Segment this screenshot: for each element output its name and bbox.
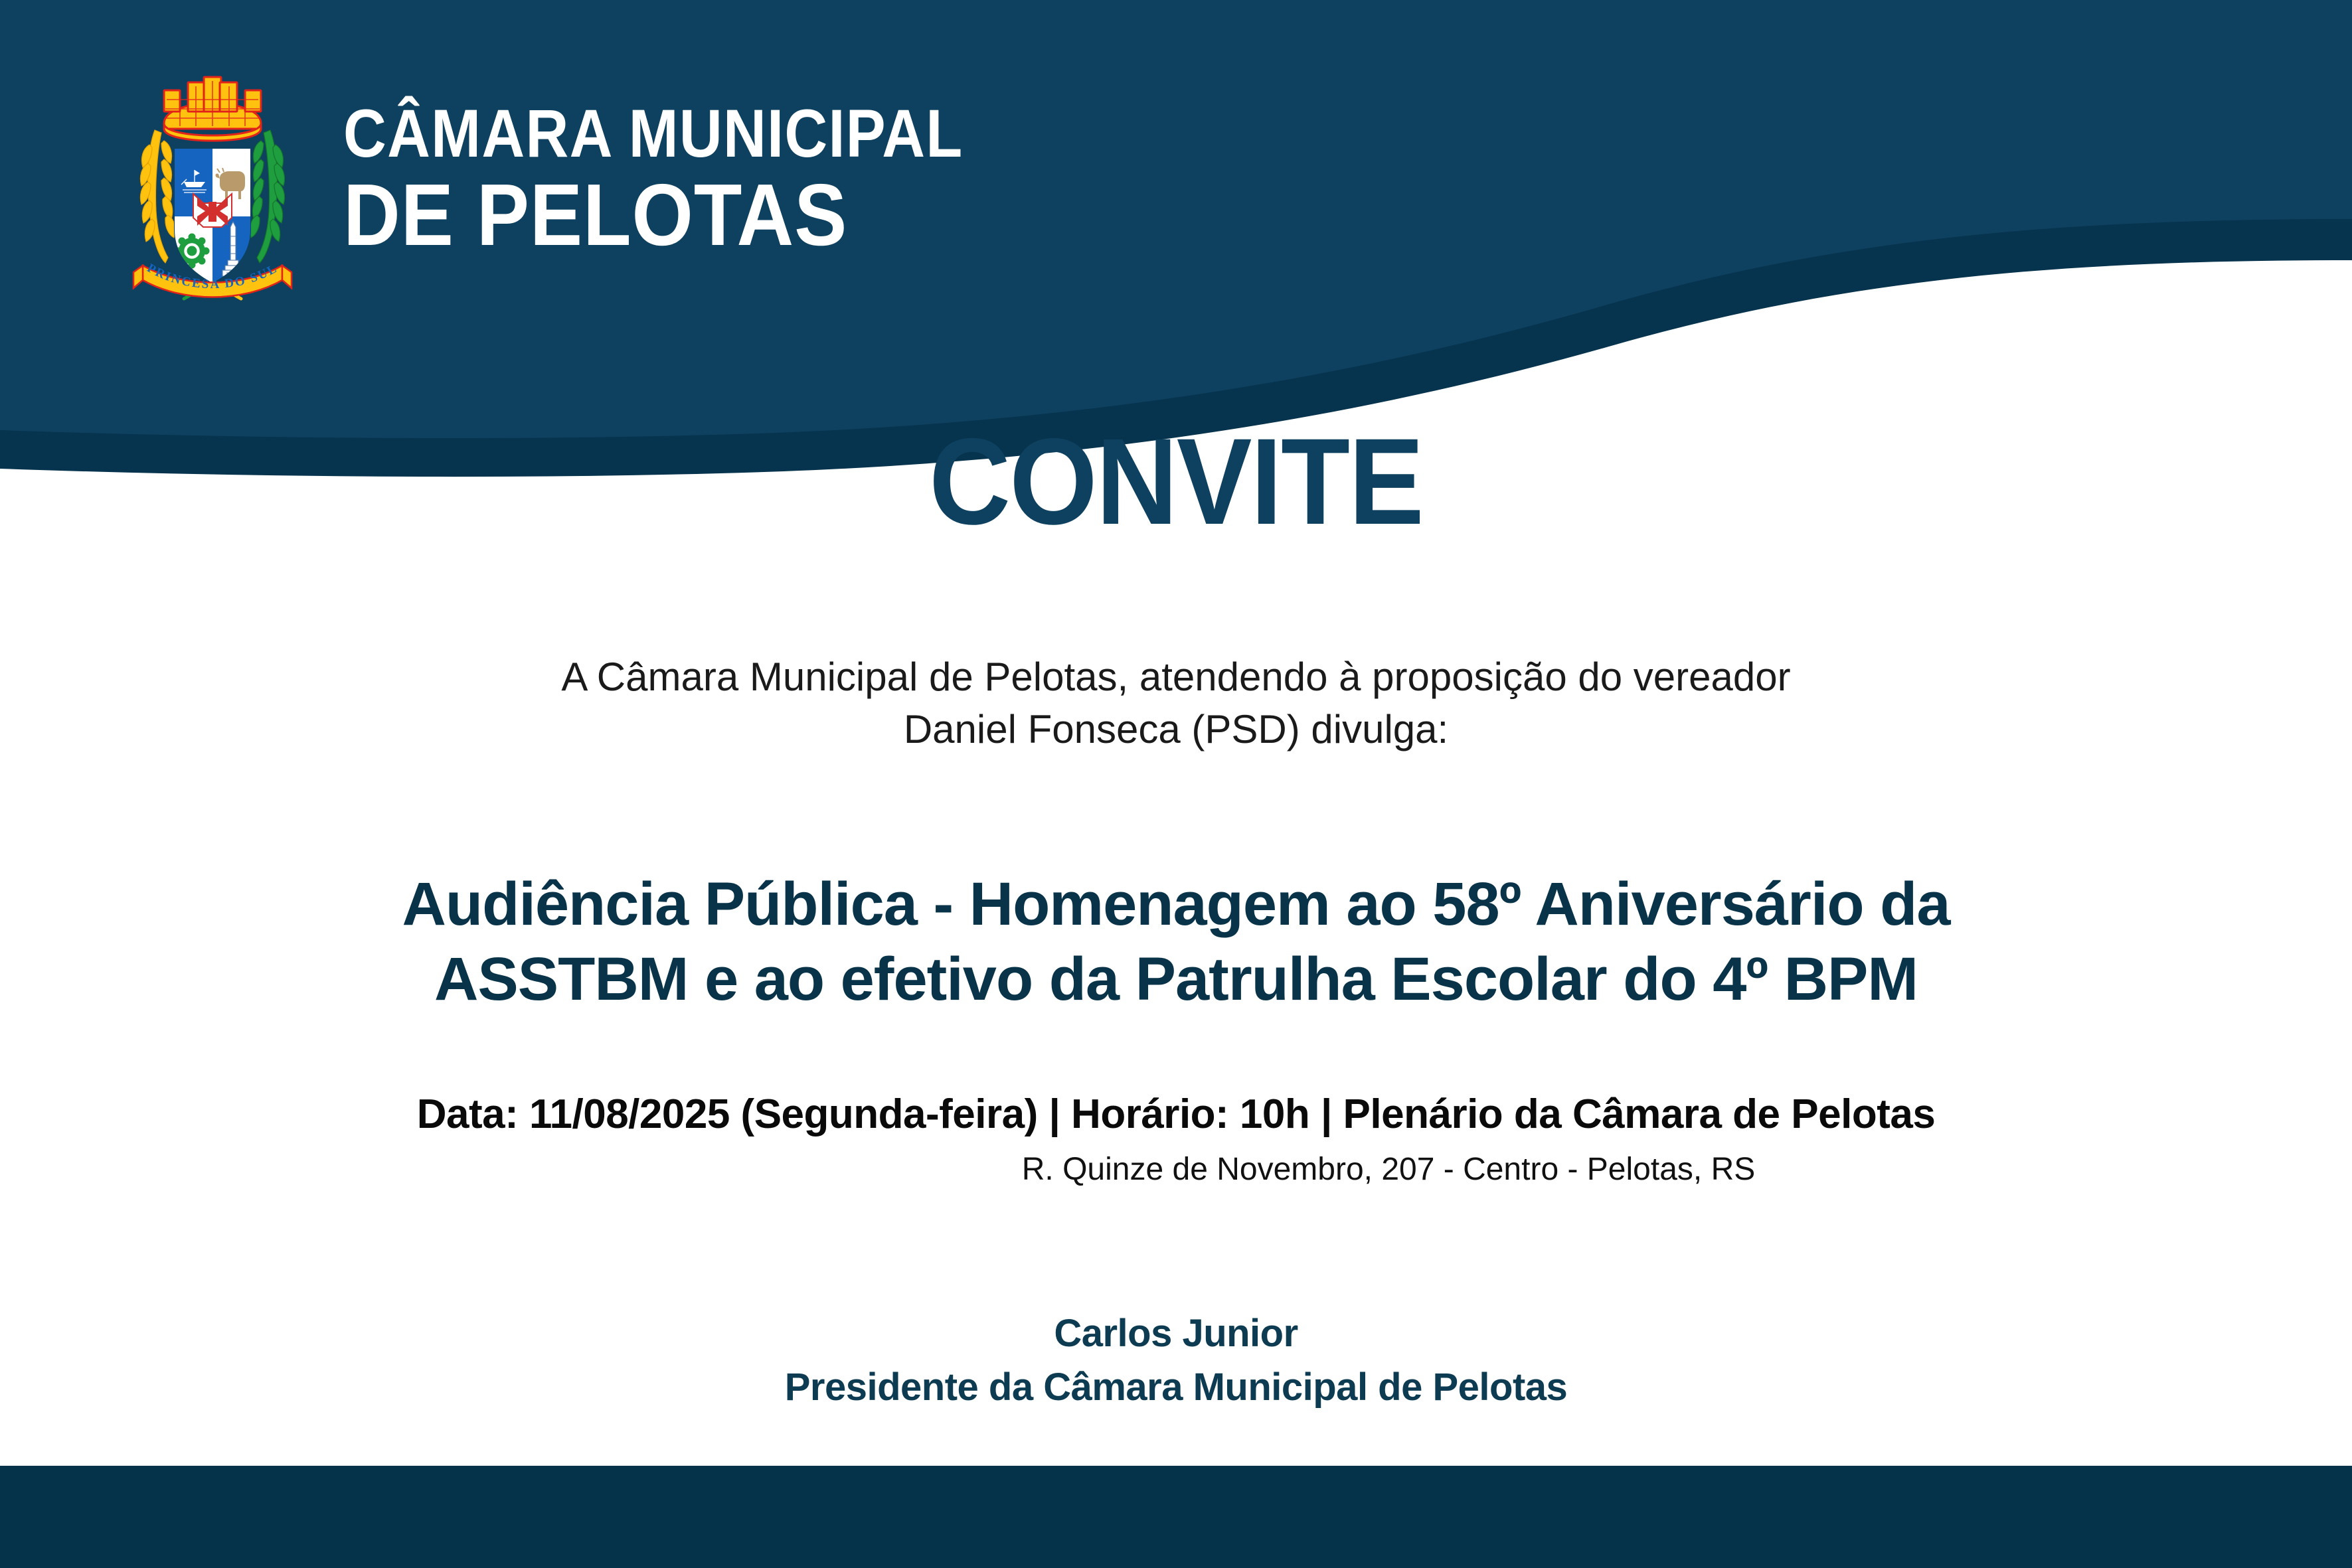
event-address: R. Quinze de Novembro, 207 - Centro - Pe… (0, 1151, 2352, 1188)
logo-line-camara-municipal: CÂMARA MUNICIPAL (343, 102, 964, 167)
event-heading-line-2: ASSTBM e ao efetivo da Patrulha Escolar … (147, 942, 2205, 1016)
logo-line-de-pelotas: DE PELOTAS (343, 173, 977, 258)
intro-paragraph: A Câmara Municipal de Pelotas, atendendo… (379, 651, 1973, 755)
signatory-role: Presidente da Câmara Municipal de Pelota… (0, 1365, 2352, 1409)
invitation-page: PRINCESA DO SUL CÂMARA MUNICIPAL DE PELO… (0, 0, 2352, 1568)
signature-block: Carlos Junior Presidente da Câmara Munic… (0, 1311, 2352, 1409)
pelotas-coat-of-arms-icon: PRINCESA DO SUL (123, 52, 302, 317)
logo-wordmark: CÂMARA MUNICIPAL DE PELOTAS (343, 102, 1048, 268)
event-heading: Audiência Pública - Homenagem ao 58º Ani… (147, 867, 2205, 1016)
intro-line-2: Daniel Fonseca (PSD) divulga: (379, 703, 1973, 755)
intro-line-1: A Câmara Municipal de Pelotas, atendendo… (379, 651, 1973, 703)
page-title: CONVITE (94, 412, 2258, 552)
wheat-branch-left (140, 130, 175, 263)
invitation-content: A Câmara Municipal de Pelotas, atendendo… (0, 651, 2352, 1188)
event-datetime-venue: Data: 11/08/2025 (Segunda-feira) | Horár… (0, 1091, 2352, 1138)
laurel-branch-right (250, 130, 284, 263)
footer-bar (0, 1466, 2352, 1568)
signatory-name: Carlos Junior (0, 1311, 2352, 1356)
civic-rosette-icon (175, 234, 210, 269)
event-heading-line-1: Audiência Pública - Homenagem ao 58º Ani… (147, 867, 2205, 941)
mural-crown-icon (164, 77, 261, 141)
logo-lockup: PRINCESA DO SUL CÂMARA MUNICIPAL DE PELO… (123, 52, 1048, 317)
